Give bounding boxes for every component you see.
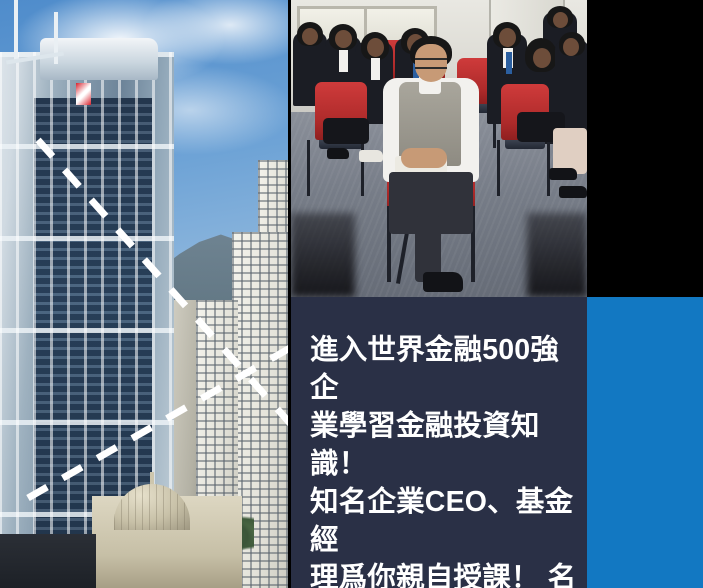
chair-leg: [361, 140, 364, 196]
black-panel: [587, 0, 703, 297]
foreground-attendee-right: [527, 213, 587, 297]
speaker-glasses-icon: [415, 58, 447, 69]
attendee-face: [335, 30, 352, 48]
dashed-line-segment-descending: [38, 140, 288, 430]
dashed-line-segment-ascending: [28, 348, 288, 498]
headline-panel: 進入世界金融500強企 業學習金融投資知識！ 知名企業CEO、基金經 理爲你親自…: [291, 297, 587, 588]
attendee-face: [499, 28, 516, 47]
attendee-face: [563, 38, 579, 56]
attendee-necktie: [506, 52, 512, 74]
promo-banner: 進入世界金融500強企 業學習金融投資知識！ 知名企業CEO、基金經 理爲你親自…: [0, 0, 703, 588]
headline-text: 進入世界金融500強企 業學習金融投資知識！ 知名企業CEO、基金經 理爲你親自…: [310, 331, 577, 588]
blue-accent-panel: [587, 297, 703, 588]
shoe: [327, 148, 349, 159]
attendee-collar: [371, 58, 380, 80]
attendee-collar: [339, 50, 348, 72]
handbag: [323, 118, 369, 144]
chair-leg: [307, 140, 310, 196]
speaker-shoe: [423, 272, 463, 292]
seminar-classroom-photo: [291, 0, 587, 297]
attendee-face: [533, 48, 551, 68]
speaker-hands: [401, 148, 447, 168]
foreground-attendee-left: [291, 213, 355, 297]
shoe: [559, 186, 587, 198]
attendee-face: [553, 12, 568, 28]
shoe: [549, 168, 577, 180]
attendee-face: [367, 38, 384, 57]
hong-kong-skyline-photo: [0, 0, 288, 588]
attendee-face: [302, 28, 318, 45]
dashed-zigzag-overlay: [0, 0, 288, 588]
sneaker: [359, 150, 383, 162]
chair-leg: [497, 140, 500, 196]
